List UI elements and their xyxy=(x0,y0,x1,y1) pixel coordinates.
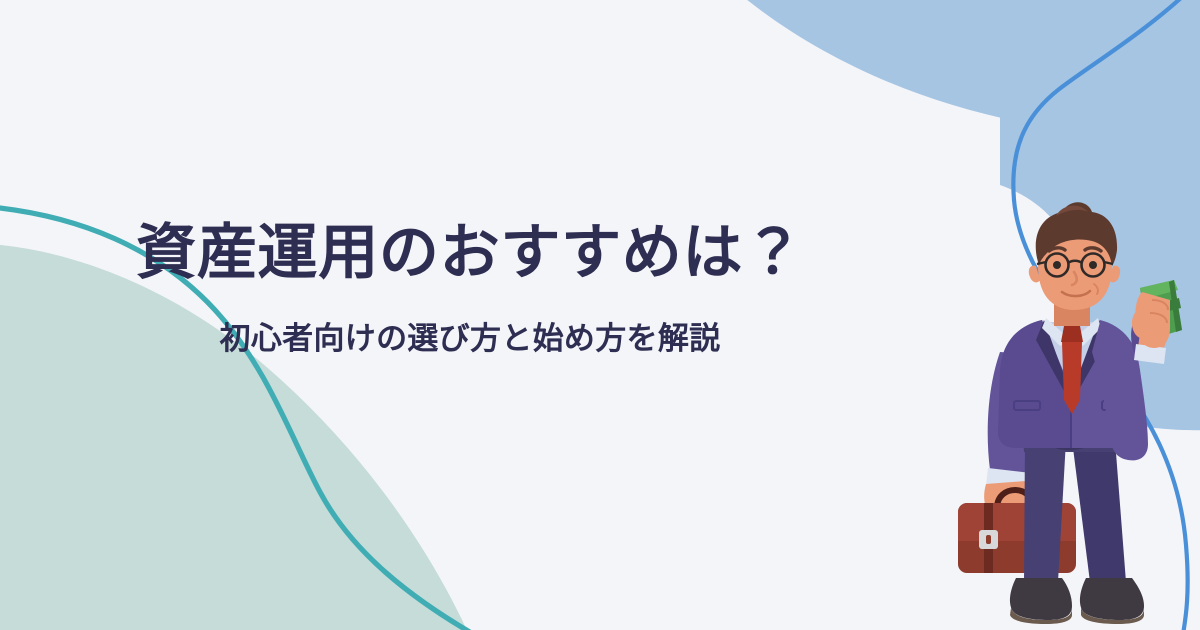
page-title: 資産運用のおすすめは？ xyxy=(0,218,1200,289)
shoe-right xyxy=(1080,578,1144,620)
shoe-left xyxy=(1010,578,1072,620)
eyecatch-canvas: 資産運用のおすすめは？ 初心者向けの選び方と始め方を解説 xyxy=(0,0,1200,630)
briefcase-buckle-left-hole xyxy=(986,535,991,544)
page-subtitle: 初心者向けの選び方と始め方を解説 xyxy=(0,289,1200,359)
text-block: 資産運用のおすすめは？ 初心者向けの選び方と始め方を解説 xyxy=(0,218,1200,359)
trouser-leg-right xyxy=(1072,440,1126,582)
